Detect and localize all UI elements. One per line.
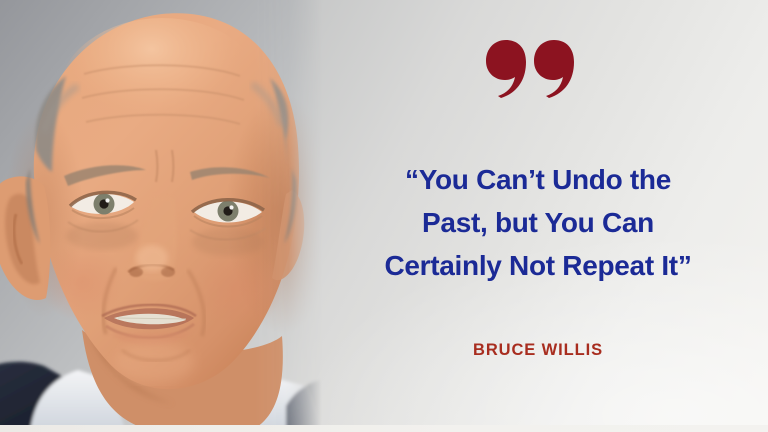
bottom-edge-strip [0, 425, 768, 432]
quote-line-3: Certainly Not Repeat It” [336, 244, 740, 287]
quote-line-1: “You Can’t Undo the [336, 158, 740, 201]
portrait-image [0, 0, 322, 432]
attribution-name: BRUCE WILLIS [336, 341, 740, 360]
quote-card: “You Can’t Undo the Past, but You Can Ce… [0, 0, 768, 432]
double-quote-icon [486, 40, 574, 98]
quote-text: “You Can’t Undo the Past, but You Can Ce… [336, 158, 740, 287]
quote-line-2: Past, but You Can [336, 201, 740, 244]
